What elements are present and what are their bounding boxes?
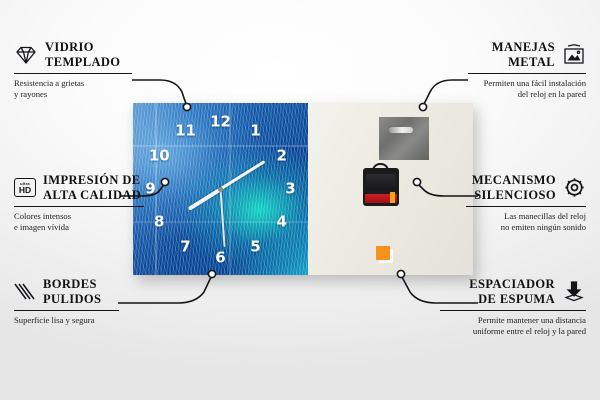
clock-numeral-6: 6 xyxy=(215,250,225,265)
callout-desc: Permite mantener una distancia uniforme … xyxy=(440,315,586,338)
clock-back-panel xyxy=(308,103,473,275)
callout-desc: Superficie lisa y segura xyxy=(14,315,119,326)
callout-rule xyxy=(14,73,132,74)
callout-title-line2: TEMPLADO xyxy=(45,55,120,69)
metal-hanger-plate xyxy=(379,117,429,160)
clock-numeral-10: 10 xyxy=(149,149,170,164)
product-image-group: 12 1 2 3 4 5 6 7 8 9 10 11 xyxy=(133,103,473,275)
clock-center-pivot xyxy=(218,187,223,192)
callout-title-line2: ALTA CALIDAD xyxy=(43,188,141,202)
callout-title-line2: METAL xyxy=(508,55,555,69)
ultra-hd-icon-bottom: HD xyxy=(19,186,31,195)
callout-impresion-alta-calidad: ultra HD IMPRESIÓN DEALTA CALIDAD Colore… xyxy=(14,173,144,234)
callout-desc: Colores intensos e imagen vívida xyxy=(14,211,144,234)
callout-rule xyxy=(468,73,586,74)
clock-numeral-9: 9 xyxy=(145,182,155,197)
connector-vidrio-templado xyxy=(132,80,186,104)
clock-numeral-12: 12 xyxy=(210,114,231,129)
callout-title-line2: SILENCIOSO xyxy=(474,188,556,202)
mechanism-hanging-loop xyxy=(372,163,389,171)
callout-rule xyxy=(14,206,144,207)
clock-numeral-8: 8 xyxy=(154,214,164,229)
callout-bordes-pulidos: BORDESPULIDOS Superficie lisa y segura xyxy=(14,277,119,326)
callout-title-line1: IMPRESIÓN DE xyxy=(43,173,141,187)
callout-title-line1: MECANISMO xyxy=(472,173,556,187)
callout-vidrio-templado: VIDRIOTEMPLADO Resistencia a grietas y r… xyxy=(14,40,132,101)
gear-icon xyxy=(563,176,586,199)
callout-title-line2: PULIDOS xyxy=(43,292,101,306)
clock-front-panel: 12 1 2 3 4 5 6 7 8 9 10 11 xyxy=(133,103,308,275)
callout-rule xyxy=(440,310,586,311)
diagonal-stripes-icon xyxy=(14,282,36,302)
callout-espaciador-espuma: ESPACIADORDE ESPUMA Permite mantener una… xyxy=(440,277,586,338)
hanger-slot xyxy=(389,127,413,133)
diamond-icon xyxy=(14,45,38,65)
callout-rule xyxy=(466,206,586,207)
clock-numeral-11: 11 xyxy=(175,123,196,138)
arrow-down-platform-icon xyxy=(562,281,586,303)
clock-numeral-4: 4 xyxy=(277,214,287,229)
callout-desc: Resistencia a grietas y rayones xyxy=(14,78,132,101)
mechanism-housing xyxy=(366,174,396,190)
callout-title-line1: VIDRIO xyxy=(45,40,94,54)
clock-numeral-2: 2 xyxy=(277,149,287,164)
clock-numeral-7: 7 xyxy=(180,240,190,255)
callout-mecanismo-silencioso: MECANISMOSILENCIOSO Las manecillas del r… xyxy=(466,173,586,234)
callout-rule xyxy=(14,310,119,311)
clock-numeral-1: 1 xyxy=(250,123,260,138)
callout-title-line2: DE ESPUMA xyxy=(478,292,555,306)
infographic-canvas: 12 1 2 3 4 5 6 7 8 9 10 11 xyxy=(0,0,600,400)
callout-manejas-metal: MANEJASMETAL Permiten una fácil instalac… xyxy=(468,40,586,101)
callout-title-line1: ESPACIADOR xyxy=(469,277,555,291)
picture-frame-hook-icon xyxy=(562,44,586,65)
callout-title-line1: MANEJAS xyxy=(492,40,555,54)
mechanism-red-label xyxy=(365,194,397,203)
callout-desc: Las manecillas del reloj no emiten ningú… xyxy=(466,211,586,234)
foam-spacer xyxy=(376,246,390,260)
connector-manejas-metal xyxy=(424,80,468,104)
clock-numeral-3: 3 xyxy=(285,182,295,197)
callout-title-line1: BORDES xyxy=(43,277,97,291)
clock-mechanism xyxy=(363,168,399,206)
clock-numeral-5: 5 xyxy=(250,240,260,255)
ultra-hd-icon: ultra HD xyxy=(14,178,36,197)
callout-desc: Permiten una fácil instalación del reloj… xyxy=(468,78,586,101)
